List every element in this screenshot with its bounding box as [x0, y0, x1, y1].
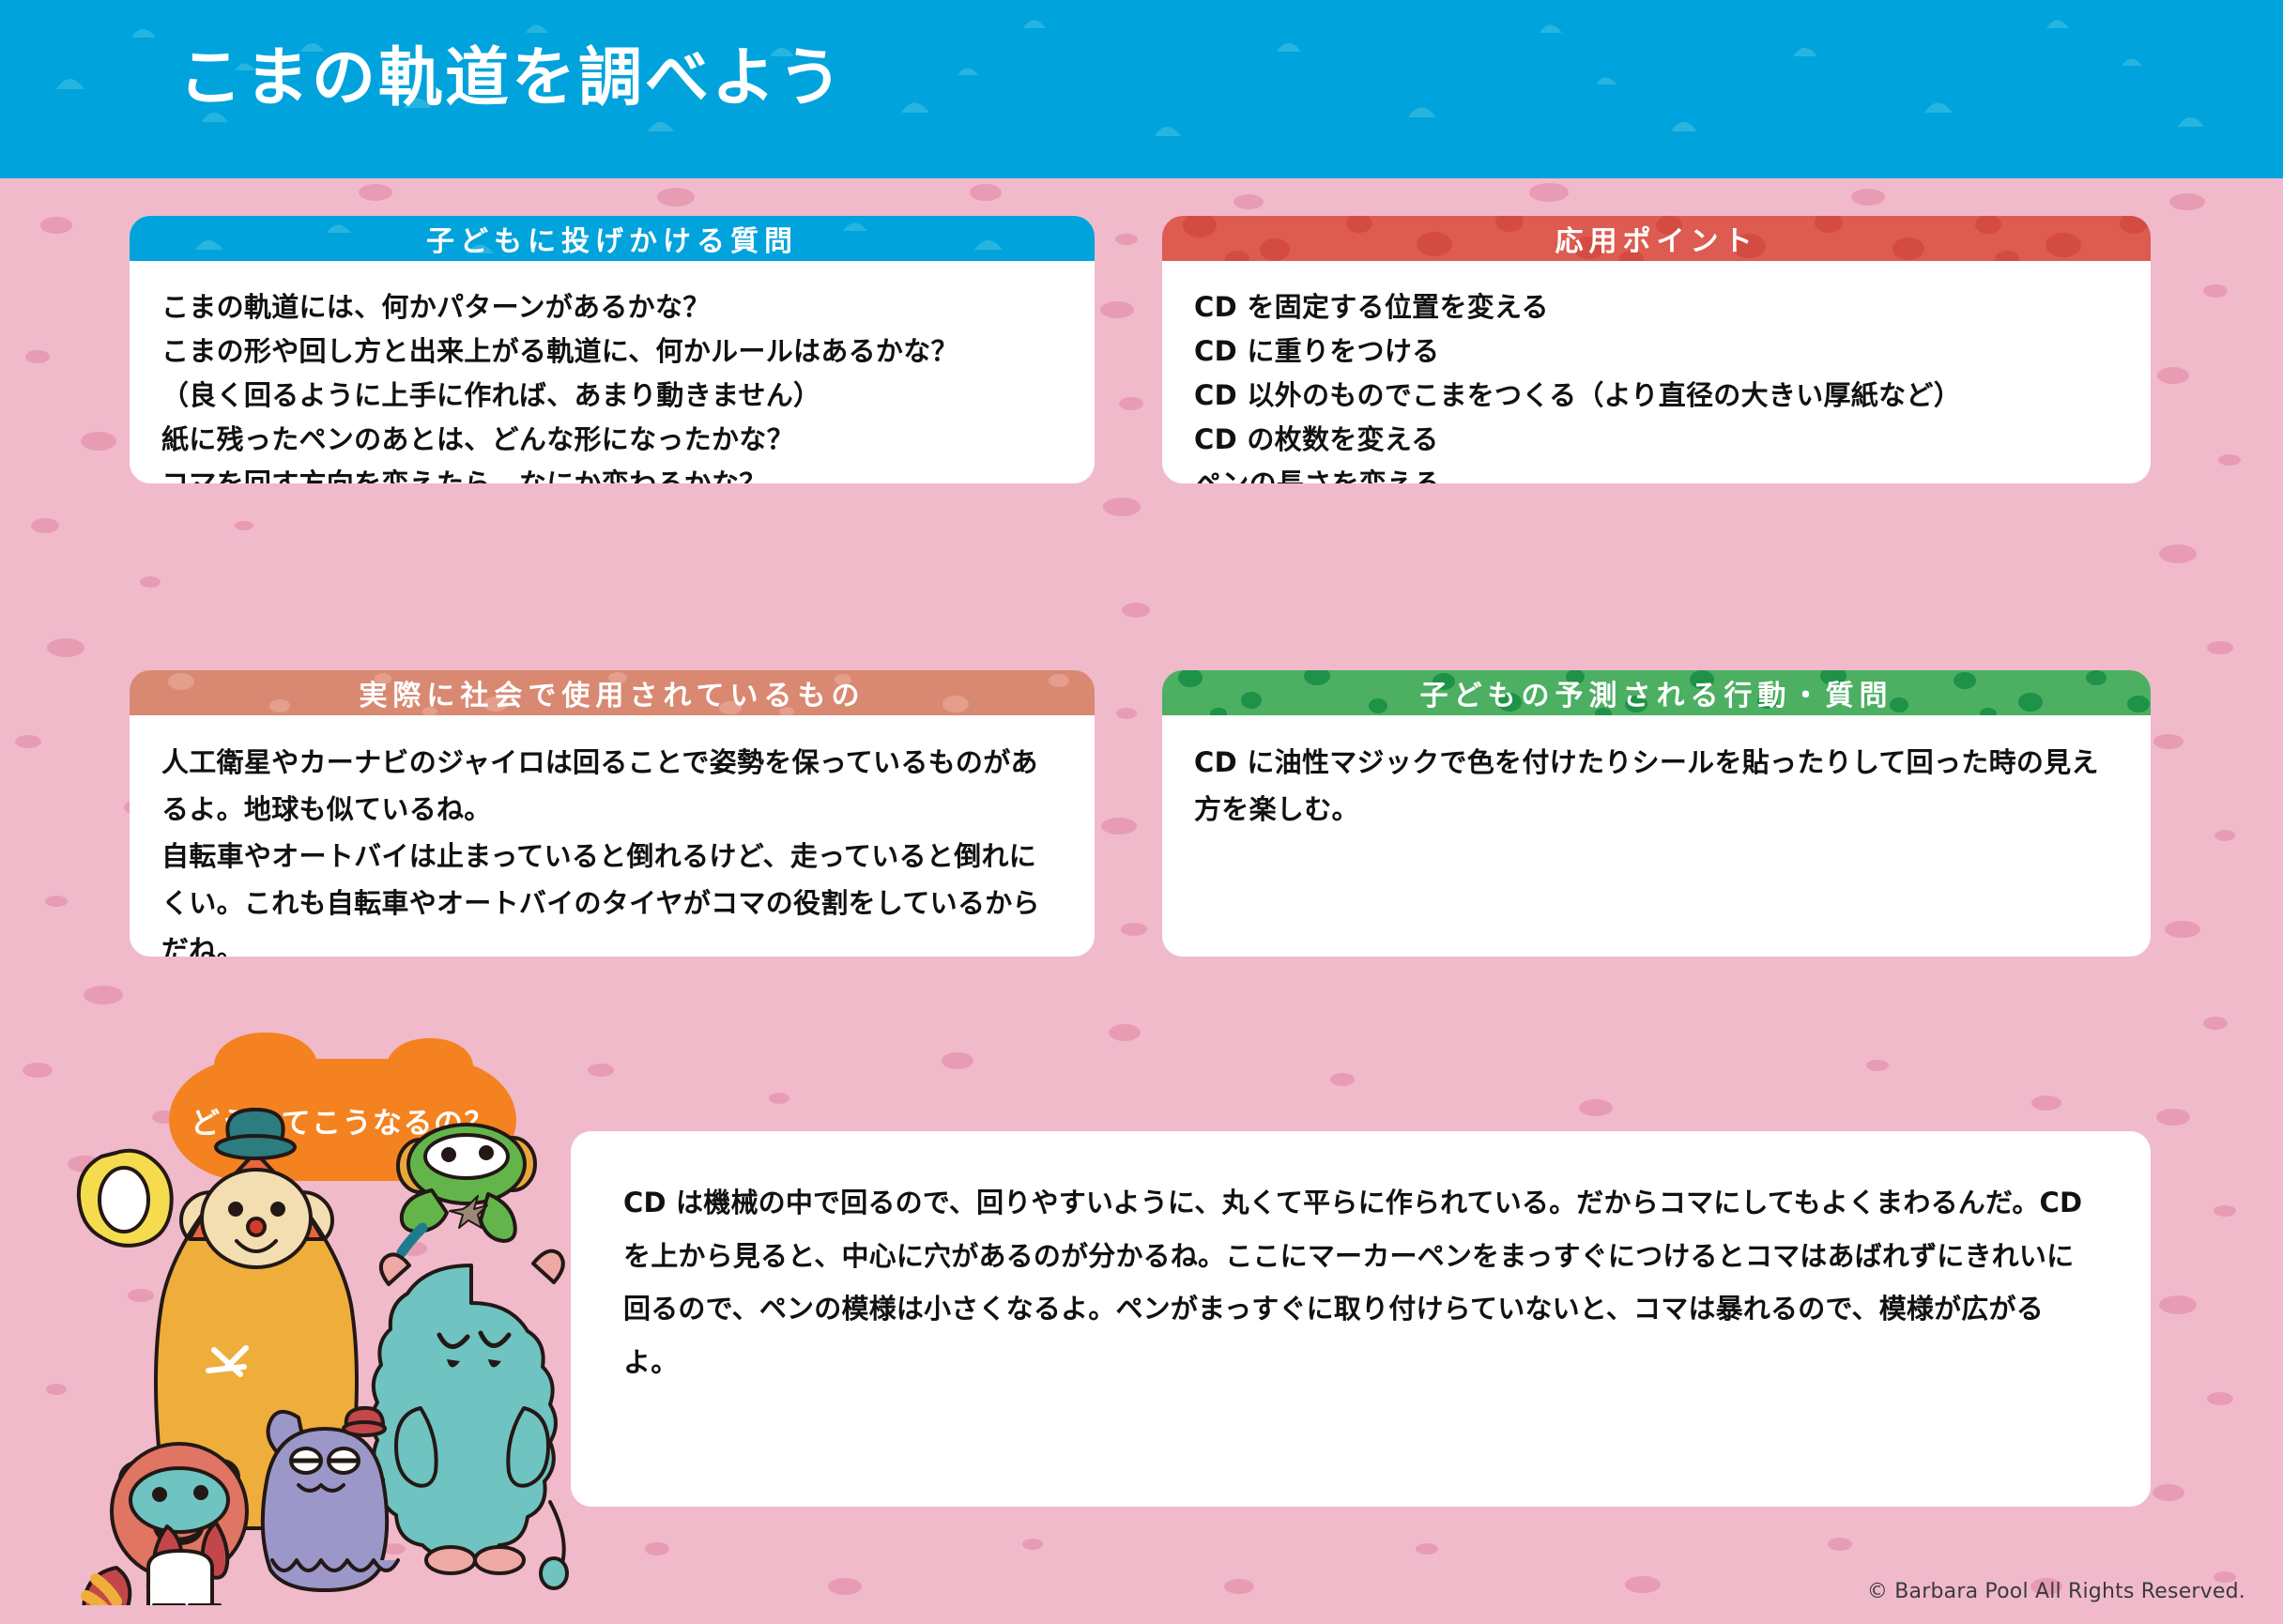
card-questions-title: 子どもに投げかける質問: [426, 218, 798, 259]
red-raccoon-character: [84, 1444, 247, 1605]
card-apply-line: CD に重りをつける: [1194, 329, 2119, 374]
page-banner: こまの軌道を調べよう: [0, 0, 2283, 178]
footer-copyright: © Barbara Pool All Rights Reserved.: [1867, 1580, 2245, 1603]
card-apply-body: CD を固定する位置を変える CD に重りをつける CD 以外のものでこまをつく…: [1162, 261, 2151, 483]
card-society-header: 実際に社会で使用されているもの: [130, 670, 1095, 715]
card-predicted-paragraph: CD に油性マジックで色を付けたりシールを貼ったりして回った時の見え方を楽しむ。: [1194, 740, 2119, 834]
card-questions-header: 子どもに投げかける質問: [130, 216, 1095, 261]
card-society-title: 実際に社会で使用されているもの: [359, 672, 865, 713]
card-apply-line: CD の枚数を変える: [1194, 418, 2119, 462]
card-apply-header: 応用ポイント: [1162, 216, 2151, 261]
card-apply-title: 応用ポイント: [1555, 218, 1758, 259]
card-questions: 子どもに投げかける質問 こまの軌道には、何かパターンがあるかな？ こまの形や回し…: [130, 216, 1095, 483]
card-apply-line: ペンの長さを変える: [1194, 462, 2119, 483]
card-apply: 応用ポイント CD を固定する位置を変える CD に重りをつける CD 以外のも…: [1162, 216, 2151, 483]
card-society-paragraph: 自転車やオートバイは止まっていると倒れるけど、走っていると倒れにくい。これも自転…: [161, 834, 1063, 957]
card-questions-line: 紙に残ったペンのあとは、どんな形になったかな？: [161, 418, 1063, 462]
card-questions-line: こまの形や回し方と出来上がる軌道に、何かルールはあるかな？: [161, 329, 1063, 374]
card-society-paragraph: 人工衛星やカーナビのジャイロは回ることで姿勢を保っているものがあるよ。地球も似て…: [161, 740, 1063, 834]
card-predicted-title: 子どもの予測される行動・質問: [1420, 672, 1893, 713]
card-predicted: 子どもの予測される行動・質問 CD に油性マジックで色を付けたりシールを貼ったり…: [1162, 670, 2151, 957]
worksheet-page: こまの軌道を調べよう 子どもに投げかける質問 こまの軌道には、何かパターンがある…: [0, 0, 2283, 1624]
card-questions-line: こまの軌道には、何かパターンがあるかな？: [161, 285, 1063, 329]
card-society: 実際に社会で使用されているもの 人工衛星やカーナビのジャイロは回ることで姿勢を保…: [130, 670, 1095, 957]
card-apply-line: CD 以外のものでこまをつくる（より直径の大きい厚紙など）: [1194, 374, 2119, 418]
green-ninja-character: [398, 1125, 535, 1252]
card-society-body: 人工衛星やカーナビのジャイロは回ることで姿勢を保っているものがあるよ。地球も似て…: [130, 715, 1095, 957]
card-questions-body: こまの軌道には、何かパターンがあるかな？ こまの形や回し方と出来上がる軌道に、何…: [130, 261, 1095, 483]
card-apply-line: CD を固定する位置を変える: [1194, 285, 2119, 329]
card-questions-line: （良く回るように上手に作れば、あまり動きません）: [161, 374, 1063, 418]
card-predicted-header: 子どもの予測される行動・質問: [1162, 670, 2151, 715]
explanation-panel: CD は機械の中で回るので、回りやすいように、丸くて平らに作られている。だからコ…: [571, 1131, 2151, 1507]
explanation-text: CD は機械の中で回るので、回りやすいように、丸くて平らに作られている。だからコ…: [623, 1176, 2098, 1388]
purple-octopus-character: [263, 1408, 398, 1590]
yellow-ring-character: [79, 1151, 172, 1246]
card-predicted-body: CD に油性マジックで色を付けたりシールを貼ったりして回った時の見え方を楽しむ。: [1162, 715, 2151, 852]
character-illustration: [47, 1098, 629, 1605]
card-questions-line: コマを回す方向を変えたら、なにか変わるかな？: [161, 462, 1063, 483]
teal-monster-character: [372, 1251, 567, 1588]
page-title: こまの軌道を調べよう: [178, 47, 845, 111]
